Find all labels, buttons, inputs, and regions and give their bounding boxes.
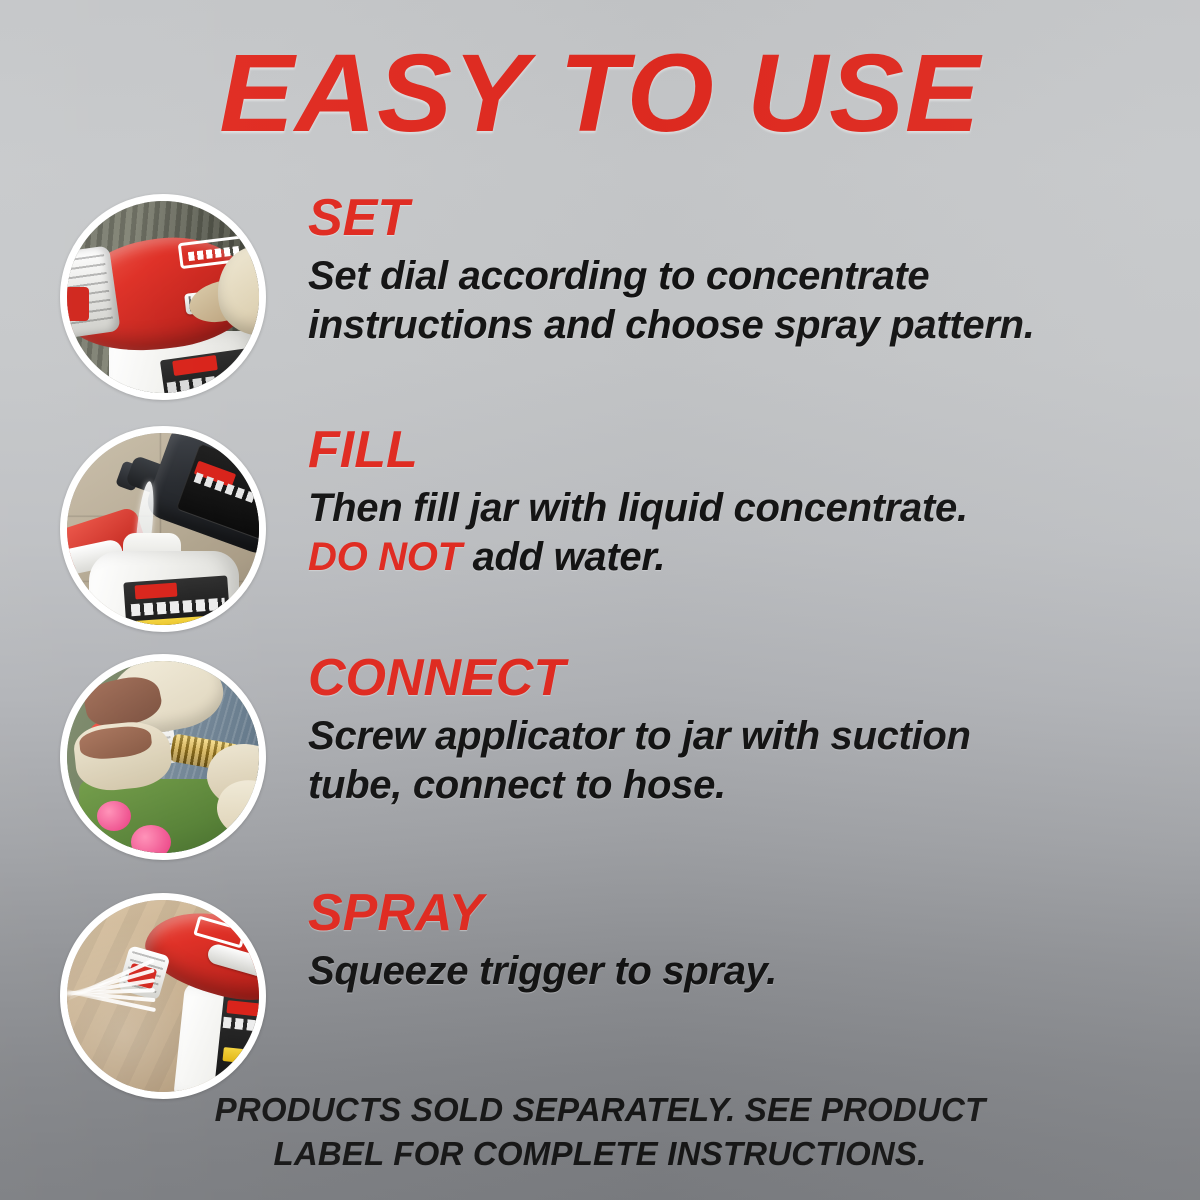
step-text-spray: SPRAY Squeeze trigger to spray. (308, 885, 1178, 996)
step-image-spray (60, 893, 266, 1099)
step-text-fill: FILL Then fill jar with liquid concentra… (308, 422, 1178, 582)
step-body-set: Set dial according to concentrate instru… (308, 252, 1178, 350)
water-spray-fan (67, 948, 152, 1037)
photo-spray-in-action (67, 900, 259, 1092)
step-body-line1: Then fill jar with liquid concentrate. (308, 486, 968, 530)
disclaimer-line-2: LABEL FOR COMPLETE INSTRUCTIONS. (0, 1132, 1200, 1176)
page-title: EASY TO USE (0, 42, 1200, 146)
step-heading-spray: SPRAY (308, 885, 1178, 941)
step-row-fill: FILL Then fill jar with liquid concentra… (0, 422, 1200, 637)
step-body-line1: Squeeze trigger to spray. (308, 949, 777, 993)
step-text-set: SET Set dial according to concentrate in… (308, 190, 1178, 350)
photo-set-sprayer-dial (67, 201, 259, 393)
instruction-poster: EASY TO USE (0, 0, 1200, 1200)
step-text-connect: CONNECT Screw applicator to jar with suc… (308, 650, 1178, 810)
step-heading-connect: CONNECT (308, 650, 1178, 706)
step-body-connect: Screw applicator to jar with suction tub… (308, 712, 1178, 810)
photo-connect-hose-fitting (67, 661, 259, 853)
step-heading-set: SET (308, 190, 1178, 246)
step-row-spray: SPRAY Squeeze trigger to spray. (0, 885, 1200, 1100)
step-image-fill (60, 426, 266, 632)
step-body-line2: tube, connect to hose. (308, 763, 726, 807)
step-image-connect (60, 654, 266, 860)
step-row-set: SET Set dial according to concentrate in… (0, 190, 1200, 405)
step-body-line2-rest: add water. (462, 535, 665, 579)
step-body-spray: Squeeze trigger to spray. (308, 947, 1178, 996)
step-body-line2: instructions and choose spray pattern. (308, 303, 1035, 347)
photo-fill-pouring-concentrate (67, 433, 259, 625)
step-row-connect: CONNECT Screw applicator to jar with suc… (0, 650, 1200, 865)
step-body-fill: Then fill jar with liquid concentrate. D… (308, 484, 1178, 582)
disclaimer: PRODUCTS SOLD SEPARATELY. SEE PRODUCT LA… (0, 1088, 1200, 1176)
step-body-line1: Set dial according to concentrate (308, 254, 929, 298)
step-heading-fill: FILL (308, 422, 1178, 478)
step-body-line1: Screw applicator to jar with suction (308, 714, 971, 758)
step-image-set (60, 194, 266, 400)
disclaimer-line-1: PRODUCTS SOLD SEPARATELY. SEE PRODUCT (0, 1088, 1200, 1132)
warning-do-not: DO NOT (308, 535, 462, 579)
